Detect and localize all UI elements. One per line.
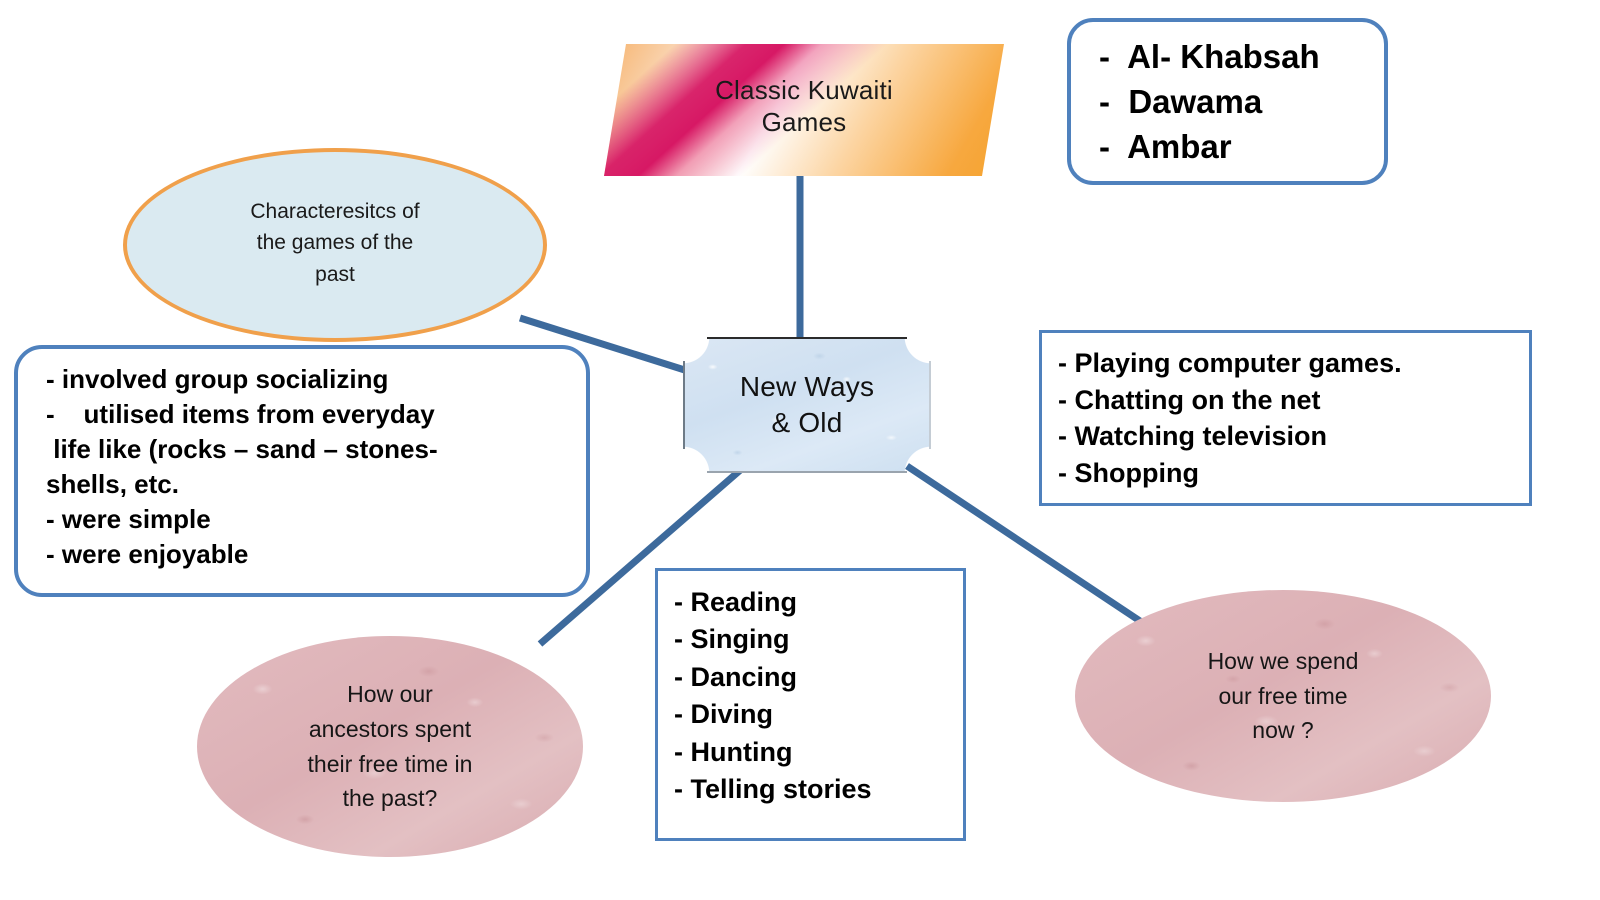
modern-activity-item: - Watching television: [1058, 418, 1529, 455]
past-traits-item: shells, etc.: [46, 467, 572, 502]
past-activity-item: - Singing: [674, 621, 963, 658]
freetime-now-question-label: How we spend our free time now ?: [1208, 644, 1359, 749]
modern-activities-box[interactable]: - Playing computer games. - Chatting on …: [1039, 330, 1532, 506]
past-traits-item: - involved group socializing: [46, 362, 572, 397]
past-traits-item: - utilised items from everyday: [46, 397, 572, 432]
center-node-new-ways-and-old[interactable]: New Ways & Old: [683, 337, 931, 473]
games-list-item: - Al- Khabsah: [1099, 35, 1384, 80]
modern-activity-item: - Playing computer games.: [1058, 345, 1529, 382]
past-activity-item: - Diving: [674, 696, 963, 733]
characteristics-ellipse[interactable]: Characteresitcs of the games of the past: [123, 148, 547, 342]
games-list-box[interactable]: - Al- Khabsah - Dawama - Ambar: [1067, 18, 1388, 185]
past-activities-box[interactable]: - Reading - Singing - Dancing - Diving -…: [655, 568, 966, 841]
past-traits-item: - were simple: [46, 502, 572, 537]
past-activity-item: - Hunting: [674, 734, 963, 771]
past-traits-box[interactable]: - involved group socializing - utilised …: [14, 345, 590, 597]
title-node-classic-kuwaiti-games[interactable]: Classic Kuwaiti Games: [604, 44, 1004, 176]
past-activity-item: - Telling stories: [674, 771, 963, 808]
mind-map-canvas: Classic Kuwaiti Games - Al- Khabsah - Da…: [0, 0, 1600, 900]
games-list-item: - Ambar: [1099, 125, 1384, 170]
ancestors-question-label: How our ancestors spent their free time …: [308, 677, 473, 817]
past-activity-item: - Dancing: [674, 659, 963, 696]
past-traits-item: - were enjoyable: [46, 537, 572, 572]
center-node-label: New Ways & Old: [683, 337, 931, 473]
past-activity-item: - Reading: [674, 584, 963, 621]
past-traits-item: life like (rocks – sand – stones-: [46, 432, 572, 467]
title-node-label: Classic Kuwaiti Games: [604, 44, 1004, 176]
ancestors-question-ellipse[interactable]: How our ancestors spent their free time …: [197, 636, 583, 857]
modern-activity-item: - Shopping: [1058, 455, 1529, 492]
characteristics-ellipse-label: Characteresitcs of the games of the past: [250, 196, 419, 295]
freetime-now-question-ellipse[interactable]: How we spend our free time now ?: [1075, 590, 1491, 802]
games-list-item: - Dawama: [1099, 80, 1384, 125]
modern-activity-item: - Chatting on the net: [1058, 382, 1529, 419]
